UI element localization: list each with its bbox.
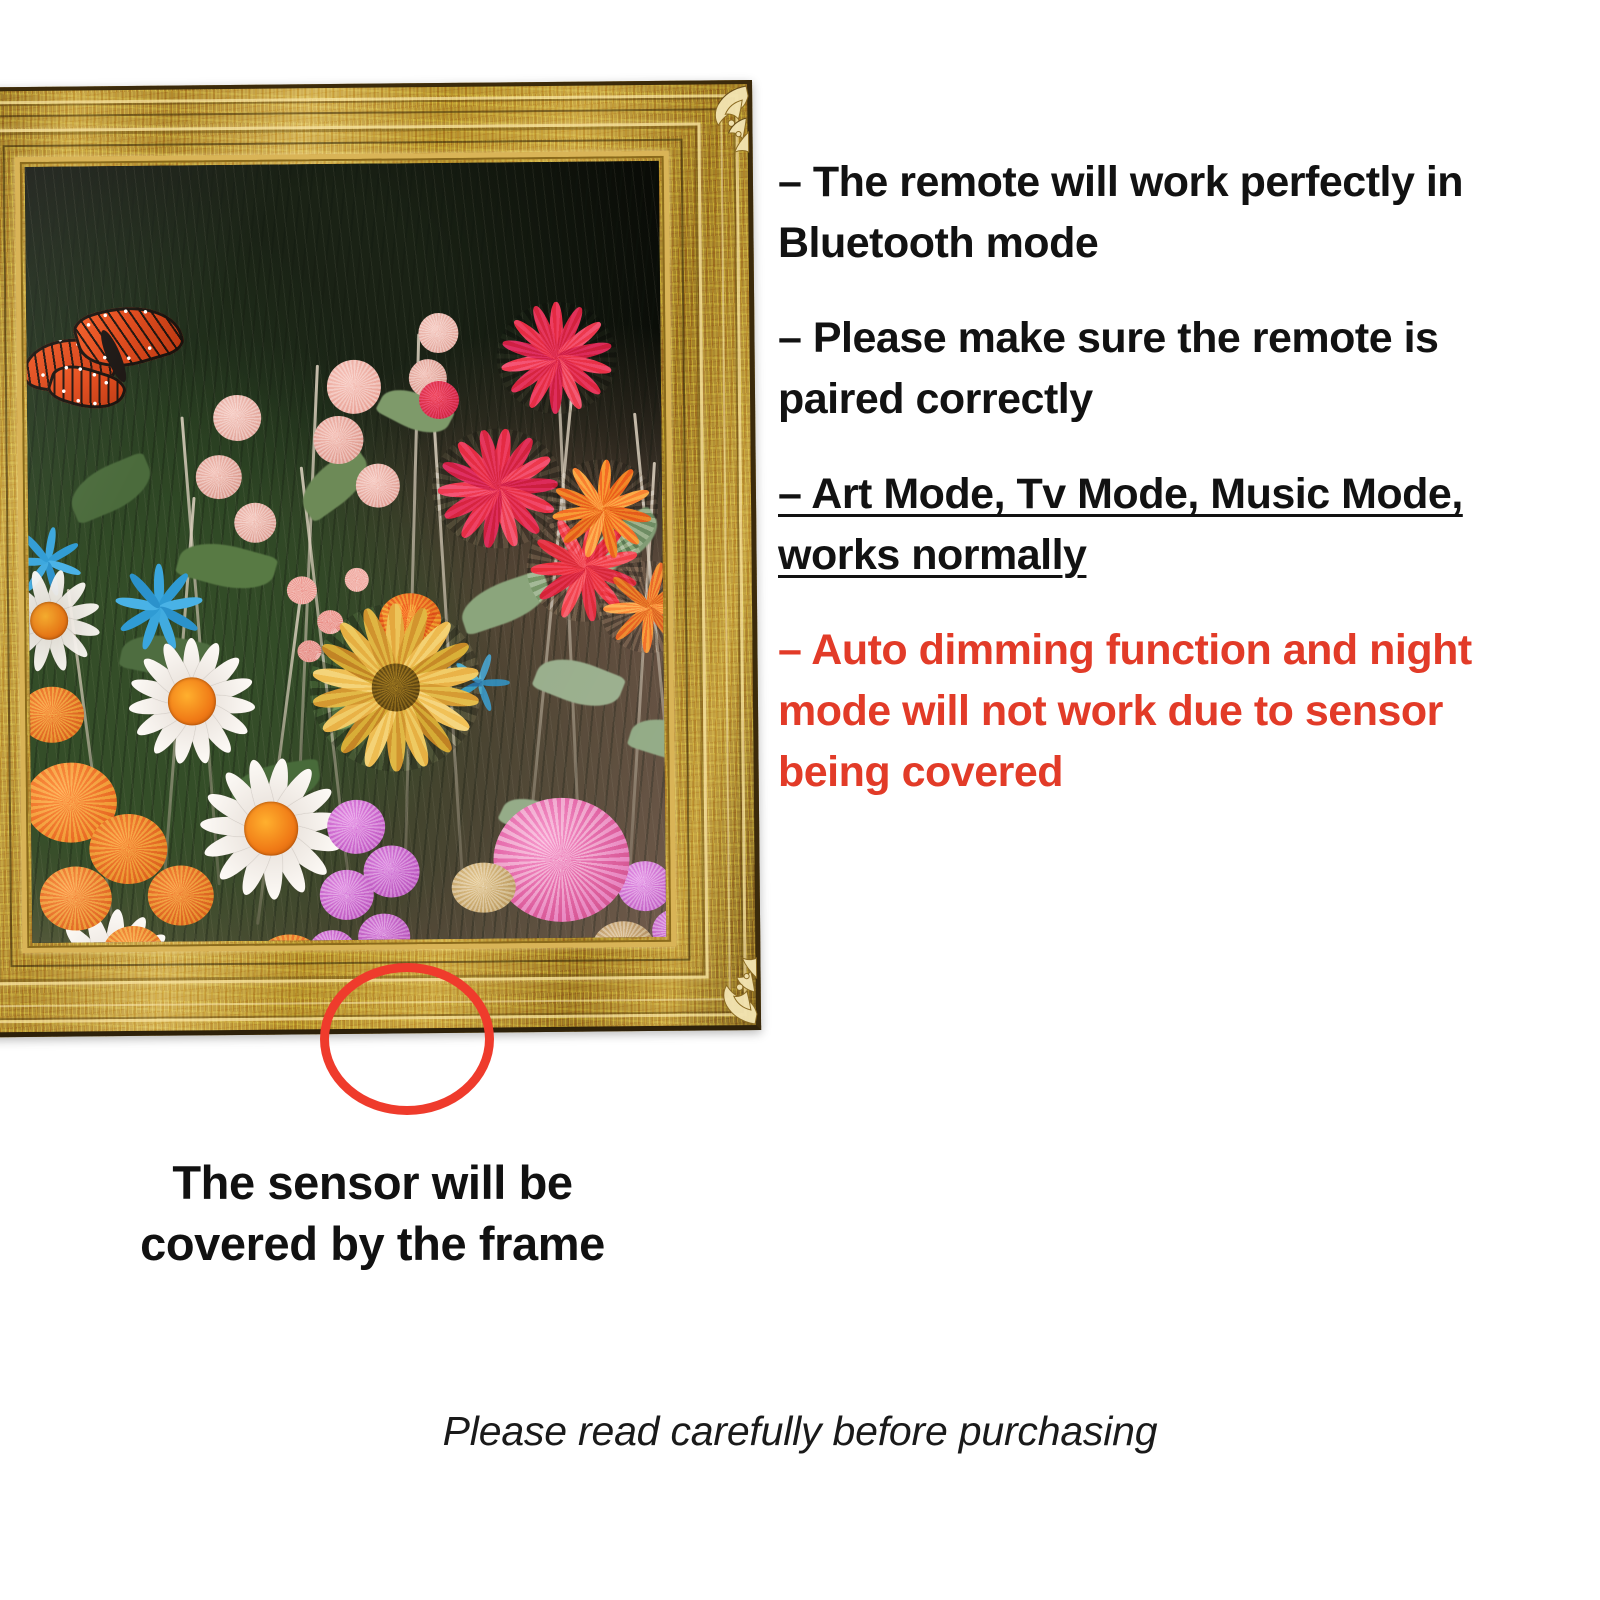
note-pairing: – Please make sure the remote is paired …	[778, 308, 1538, 430]
note-bluetooth: – The remote will work perfectly in Blue…	[778, 152, 1538, 274]
painting-red-chrysanthemum	[496, 301, 617, 414]
painting-red-bud	[419, 381, 459, 419]
sensor-location-highlight-circle	[320, 963, 494, 1115]
painting-small-pink-floret	[345, 568, 369, 592]
frame-caption-line-2: covered by the frame	[0, 1213, 745, 1274]
painting-monarch-butterfly	[25, 293, 209, 413]
painting-content	[25, 161, 666, 943]
painting-pink-bloom	[327, 360, 382, 415]
painting-orange-marigold	[40, 866, 113, 931]
picture-frame	[0, 80, 761, 1038]
note-modes: – Art Mode, Tv Mode, Music Mode, works n…	[778, 464, 1538, 586]
painting-pink-bloom	[196, 455, 242, 499]
painting-orange-marigold	[148, 865, 215, 926]
painting-pink-bloom	[418, 313, 458, 353]
painting-pink-bloom	[213, 395, 261, 441]
painting-pink-bloom	[234, 503, 276, 543]
compatibility-notes-list: – The remote will work perfectly in Blue…	[778, 152, 1538, 803]
framed-artwork	[0, 80, 761, 1038]
painting-purple-phlox	[327, 800, 386, 855]
painting-purple-phlox	[320, 870, 374, 921]
painting-canvas	[25, 161, 666, 943]
painting-pink-bloom	[356, 463, 400, 507]
painting-white-daisy	[125, 635, 258, 768]
painting-white-daisy	[25, 566, 104, 675]
painting-golden-dahlia	[309, 603, 483, 773]
footer-note: Please read carefully before purchasing	[0, 1408, 1600, 1455]
painting-pink-bloom	[313, 416, 363, 464]
painting-small-pink-floret	[287, 576, 317, 604]
frame-caption: The sensor will be covered by the frame	[0, 1152, 745, 1274]
note-dimming-warning: – Auto dimming function and night mode w…	[778, 620, 1538, 803]
painting-orange-marigold	[89, 814, 168, 885]
frame-caption-line-1: The sensor will be	[0, 1152, 745, 1213]
